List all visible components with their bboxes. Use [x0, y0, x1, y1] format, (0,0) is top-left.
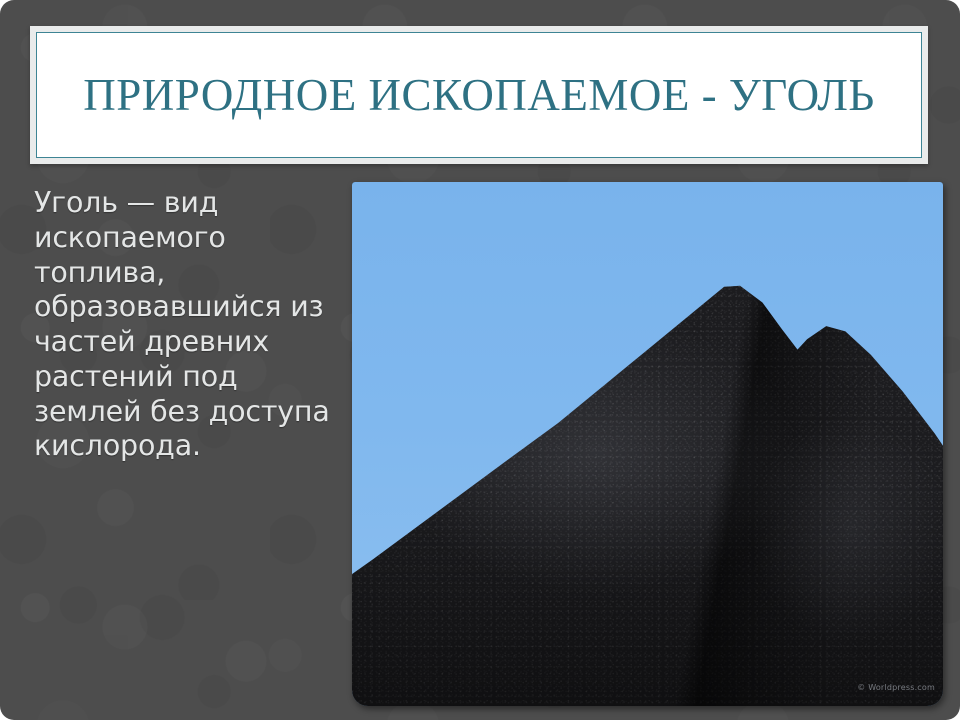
photo-coal-heap [352, 182, 943, 706]
coal-pile-photo: © Worldpress.com [352, 182, 943, 706]
photo-watermark: © Worldpress.com [857, 683, 935, 692]
page-title: ПРИРОДНОЕ ИСКОПАЕМОЕ - УГОЛЬ [57, 70, 901, 120]
slide-title-frame: ПРИРОДНОЕ ИСКОПАЕМОЕ - УГОЛЬ [30, 26, 928, 164]
slide-body-paragraph: Уголь — вид ископаемого топлива, образов… [34, 186, 334, 464]
photo-coal-heap-sheen [352, 182, 943, 706]
slide-title-inner-border: ПРИРОДНОЕ ИСКОПАЕМОЕ - УГОЛЬ [36, 32, 922, 158]
presentation-slide: ПРИРОДНОЕ ИСКОПАЕМОЕ - УГОЛЬ Уголь — вид… [0, 0, 960, 720]
